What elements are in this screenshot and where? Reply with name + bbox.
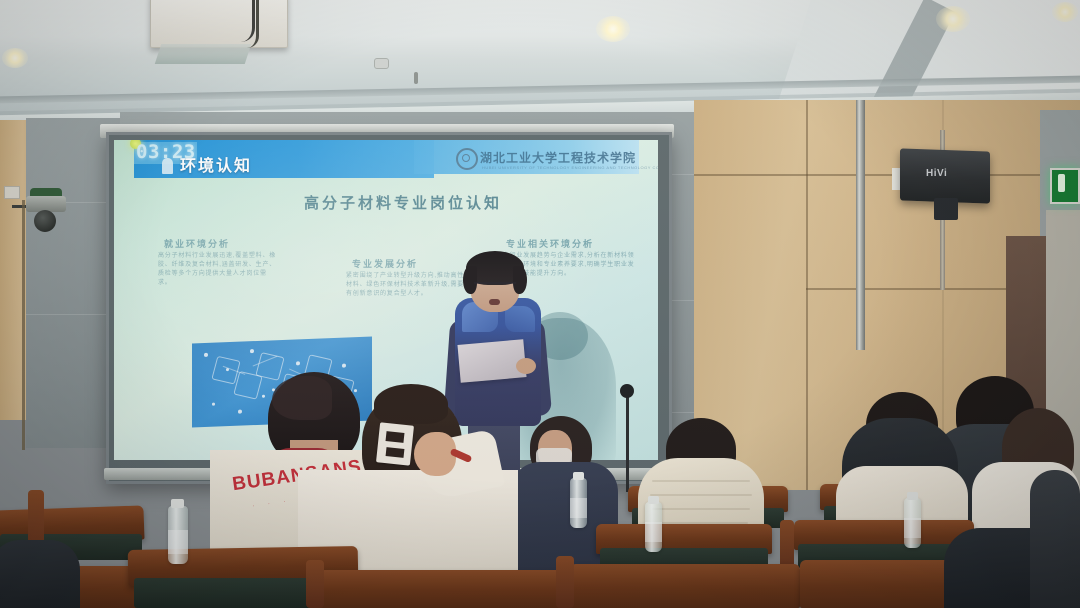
- speaker-brand-label: HiVi: [926, 168, 966, 179]
- bottle-label: [168, 530, 188, 554]
- presenter-shirt-panel: [505, 306, 535, 332]
- projector-cable: [238, 0, 259, 48]
- bottle-cap: [171, 499, 184, 508]
- seat-back: [312, 570, 562, 608]
- security-camera-lens-icon: [34, 210, 56, 232]
- wall-metal-column-trim: [856, 100, 865, 350]
- audience-hair-bun: [374, 384, 448, 424]
- hair-clip-detail: [386, 447, 405, 458]
- ceiling-downlight-icon: [936, 6, 970, 32]
- exit-sign-icon: [1050, 168, 1080, 204]
- bottle-cap: [648, 496, 659, 504]
- hair-clip-detail: [386, 431, 405, 443]
- audience-hand: [414, 432, 456, 476]
- speaker-bracket: [934, 198, 958, 220]
- seat-armrest: [556, 556, 574, 608]
- wall-outlet-icon: [4, 186, 20, 199]
- smoke-detector-icon: [374, 58, 389, 69]
- hair-clip-icon: [376, 422, 414, 465]
- seat-armrest: [306, 560, 324, 608]
- audience-hair: [272, 376, 332, 420]
- wall-conduit: [22, 200, 25, 450]
- ceiling-sensor-icon: [414, 72, 418, 84]
- seat-back: [570, 564, 800, 608]
- lecture-hall-photo: HiVi 03:23 环境认知 湖北工业大学工程技术学院 HUBEI UNIVE…: [0, 0, 1080, 608]
- microphone-stand: [626, 392, 629, 492]
- ceiling-downlight-icon: [2, 48, 28, 68]
- bottle-cap: [907, 492, 918, 500]
- bottle-label: [645, 522, 662, 542]
- presenter-script-paper: [457, 339, 526, 383]
- bottle-label: [570, 498, 587, 518]
- bottle-label: [904, 518, 921, 538]
- ceiling-downlight-icon: [1052, 2, 1078, 22]
- microphone-icon: [620, 384, 634, 398]
- exit-sign-figure-icon: [1058, 174, 1065, 192]
- projector-lens-beam: [155, 44, 251, 64]
- ceiling-downlight-icon: [596, 16, 630, 42]
- bottle-cap: [573, 472, 584, 480]
- presenter-hand: [516, 358, 536, 374]
- audience-body-partial: [0, 540, 80, 608]
- ceiling-projector: [150, 0, 288, 48]
- presenter-mouth: [489, 299, 500, 305]
- audience-body: [1030, 470, 1080, 608]
- presenter-glasses-icon: [474, 282, 516, 292]
